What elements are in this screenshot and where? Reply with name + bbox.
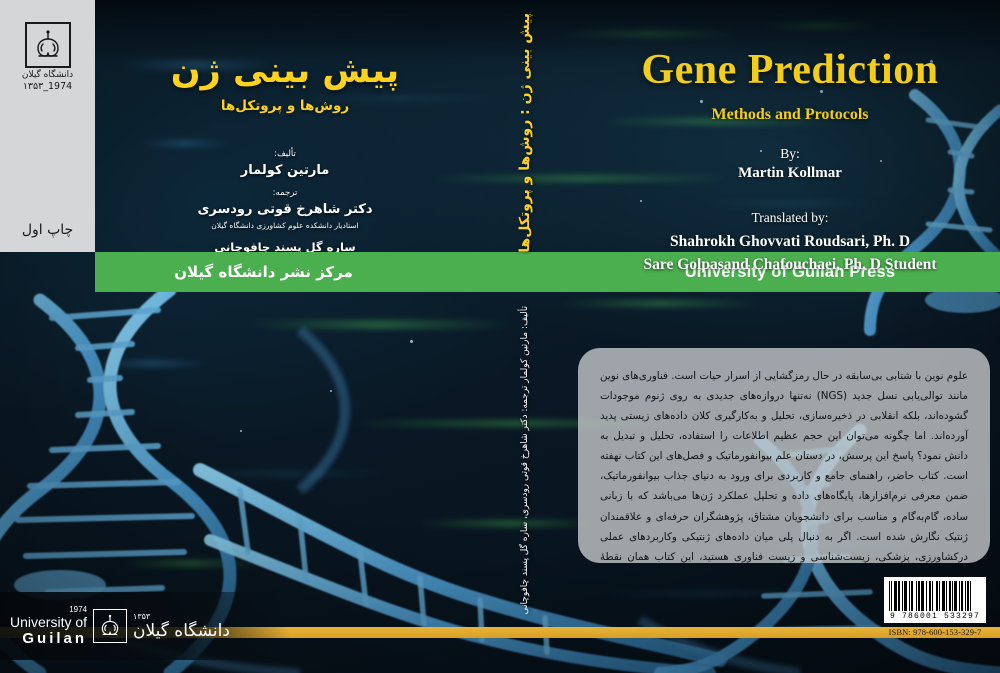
logo-en-line2: Guilan	[10, 630, 87, 647]
front-translated-label: Translated by:	[580, 210, 1000, 226]
flap-logo-years: ۱۳۵۳_1974	[23, 81, 72, 92]
university-logo-group: 1974 University of Guilan ۱۳۵۳	[10, 598, 290, 654]
front-translator-1: Shahrokh Ghovvati Roudsari, Ph. D	[580, 230, 1000, 253]
barcode-bars	[889, 581, 981, 611]
author-name-fa: مارتین کولمار	[100, 161, 470, 181]
guilan-emblem-icon-bottom	[93, 609, 127, 643]
spine-title-text: پیش بینی ژن : روش‌ها و پروتکل‌ها	[517, 13, 533, 253]
left-flap-panel: دانشگاه گیلان ۱۳۵۳_1974 چاپ اول	[0, 0, 95, 252]
flap-logo-fa-name: دانشگاه گیلان	[22, 70, 73, 80]
back-cover-credits: تألیف: مارتین کولمار ترجمه: دکتر شاهرخ ق…	[100, 148, 470, 268]
spine-authors-area: تألیف: مارتین کولمار ترجمه: دکتر شاهرخ ق…	[470, 300, 580, 620]
front-subtitle: Methods and Protocols	[580, 106, 1000, 124]
author-label-fa: تألیف:	[100, 148, 470, 161]
back-title-fa: پیش بینی ژن	[100, 52, 470, 91]
barcode: 9 786001 533297	[884, 577, 986, 623]
back-subtitle-fa: روش‌ها و پروتکل‌ها	[100, 98, 470, 114]
flap-university-logo: دانشگاه گیلان ۱۳۵۳_1974	[0, 22, 95, 92]
publisher-band-back: مرکز نشر دانشگاه گیلان	[95, 252, 470, 292]
translator1-affiliation-fa: استادیار دانشکده علوم کشاورزی دانشگاه گی…	[100, 220, 470, 232]
barcode-digits: 9 786001 533297	[889, 612, 981, 621]
logo-year-fa: ۱۳۵۳	[133, 612, 150, 621]
front-title: Gene Prediction	[580, 48, 1000, 92]
translator1-name-fa: دکتر شاهرخ قوتی رودسری	[100, 200, 470, 220]
edition-label: چاپ اول	[0, 222, 95, 238]
front-author: Martin Kollmar	[580, 165, 1000, 182]
front-translator-2: Sare Golpasand Chafouchaei, Ph. D Studen…	[580, 253, 1000, 276]
book-cover-artwork: دانشگاه گیلان ۱۳۵۳_1974 چاپ اول پیش بینی…	[0, 0, 1000, 673]
guilan-emblem-icon	[25, 22, 71, 68]
front-cover-text-block: Gene Prediction Methods and Protocols By…	[580, 48, 1000, 277]
back-cover-title-block: پیش بینی ژن روش‌ها و پروتکل‌ها	[100, 52, 470, 114]
back-cover-blurb: علوم نوین با شتابی بی‌سابقه در حال رمزگش…	[578, 348, 990, 563]
spine-title-area: پیش بینی ژن : روش‌ها و پروتکل‌ها	[470, 18, 580, 248]
spine-authors-text: تألیف: مارتین کولمار ترجمه: دکتر شاهرخ ق…	[520, 306, 530, 614]
publisher-band-spine	[470, 252, 580, 292]
translator-label-fa: ترجمه:	[100, 187, 470, 200]
logo-fa-name-bottom: دانشگاه گیلان	[133, 621, 230, 641]
front-by-label: By:	[580, 146, 1000, 162]
isbn-label: ISBN: 978-600-153-329-7	[884, 627, 986, 637]
logo-year-en: 1974	[69, 605, 87, 614]
publisher-band-back-label: مرکز نشر دانشگاه گیلان	[174, 263, 353, 281]
logo-en-line1: University of	[10, 614, 87, 630]
